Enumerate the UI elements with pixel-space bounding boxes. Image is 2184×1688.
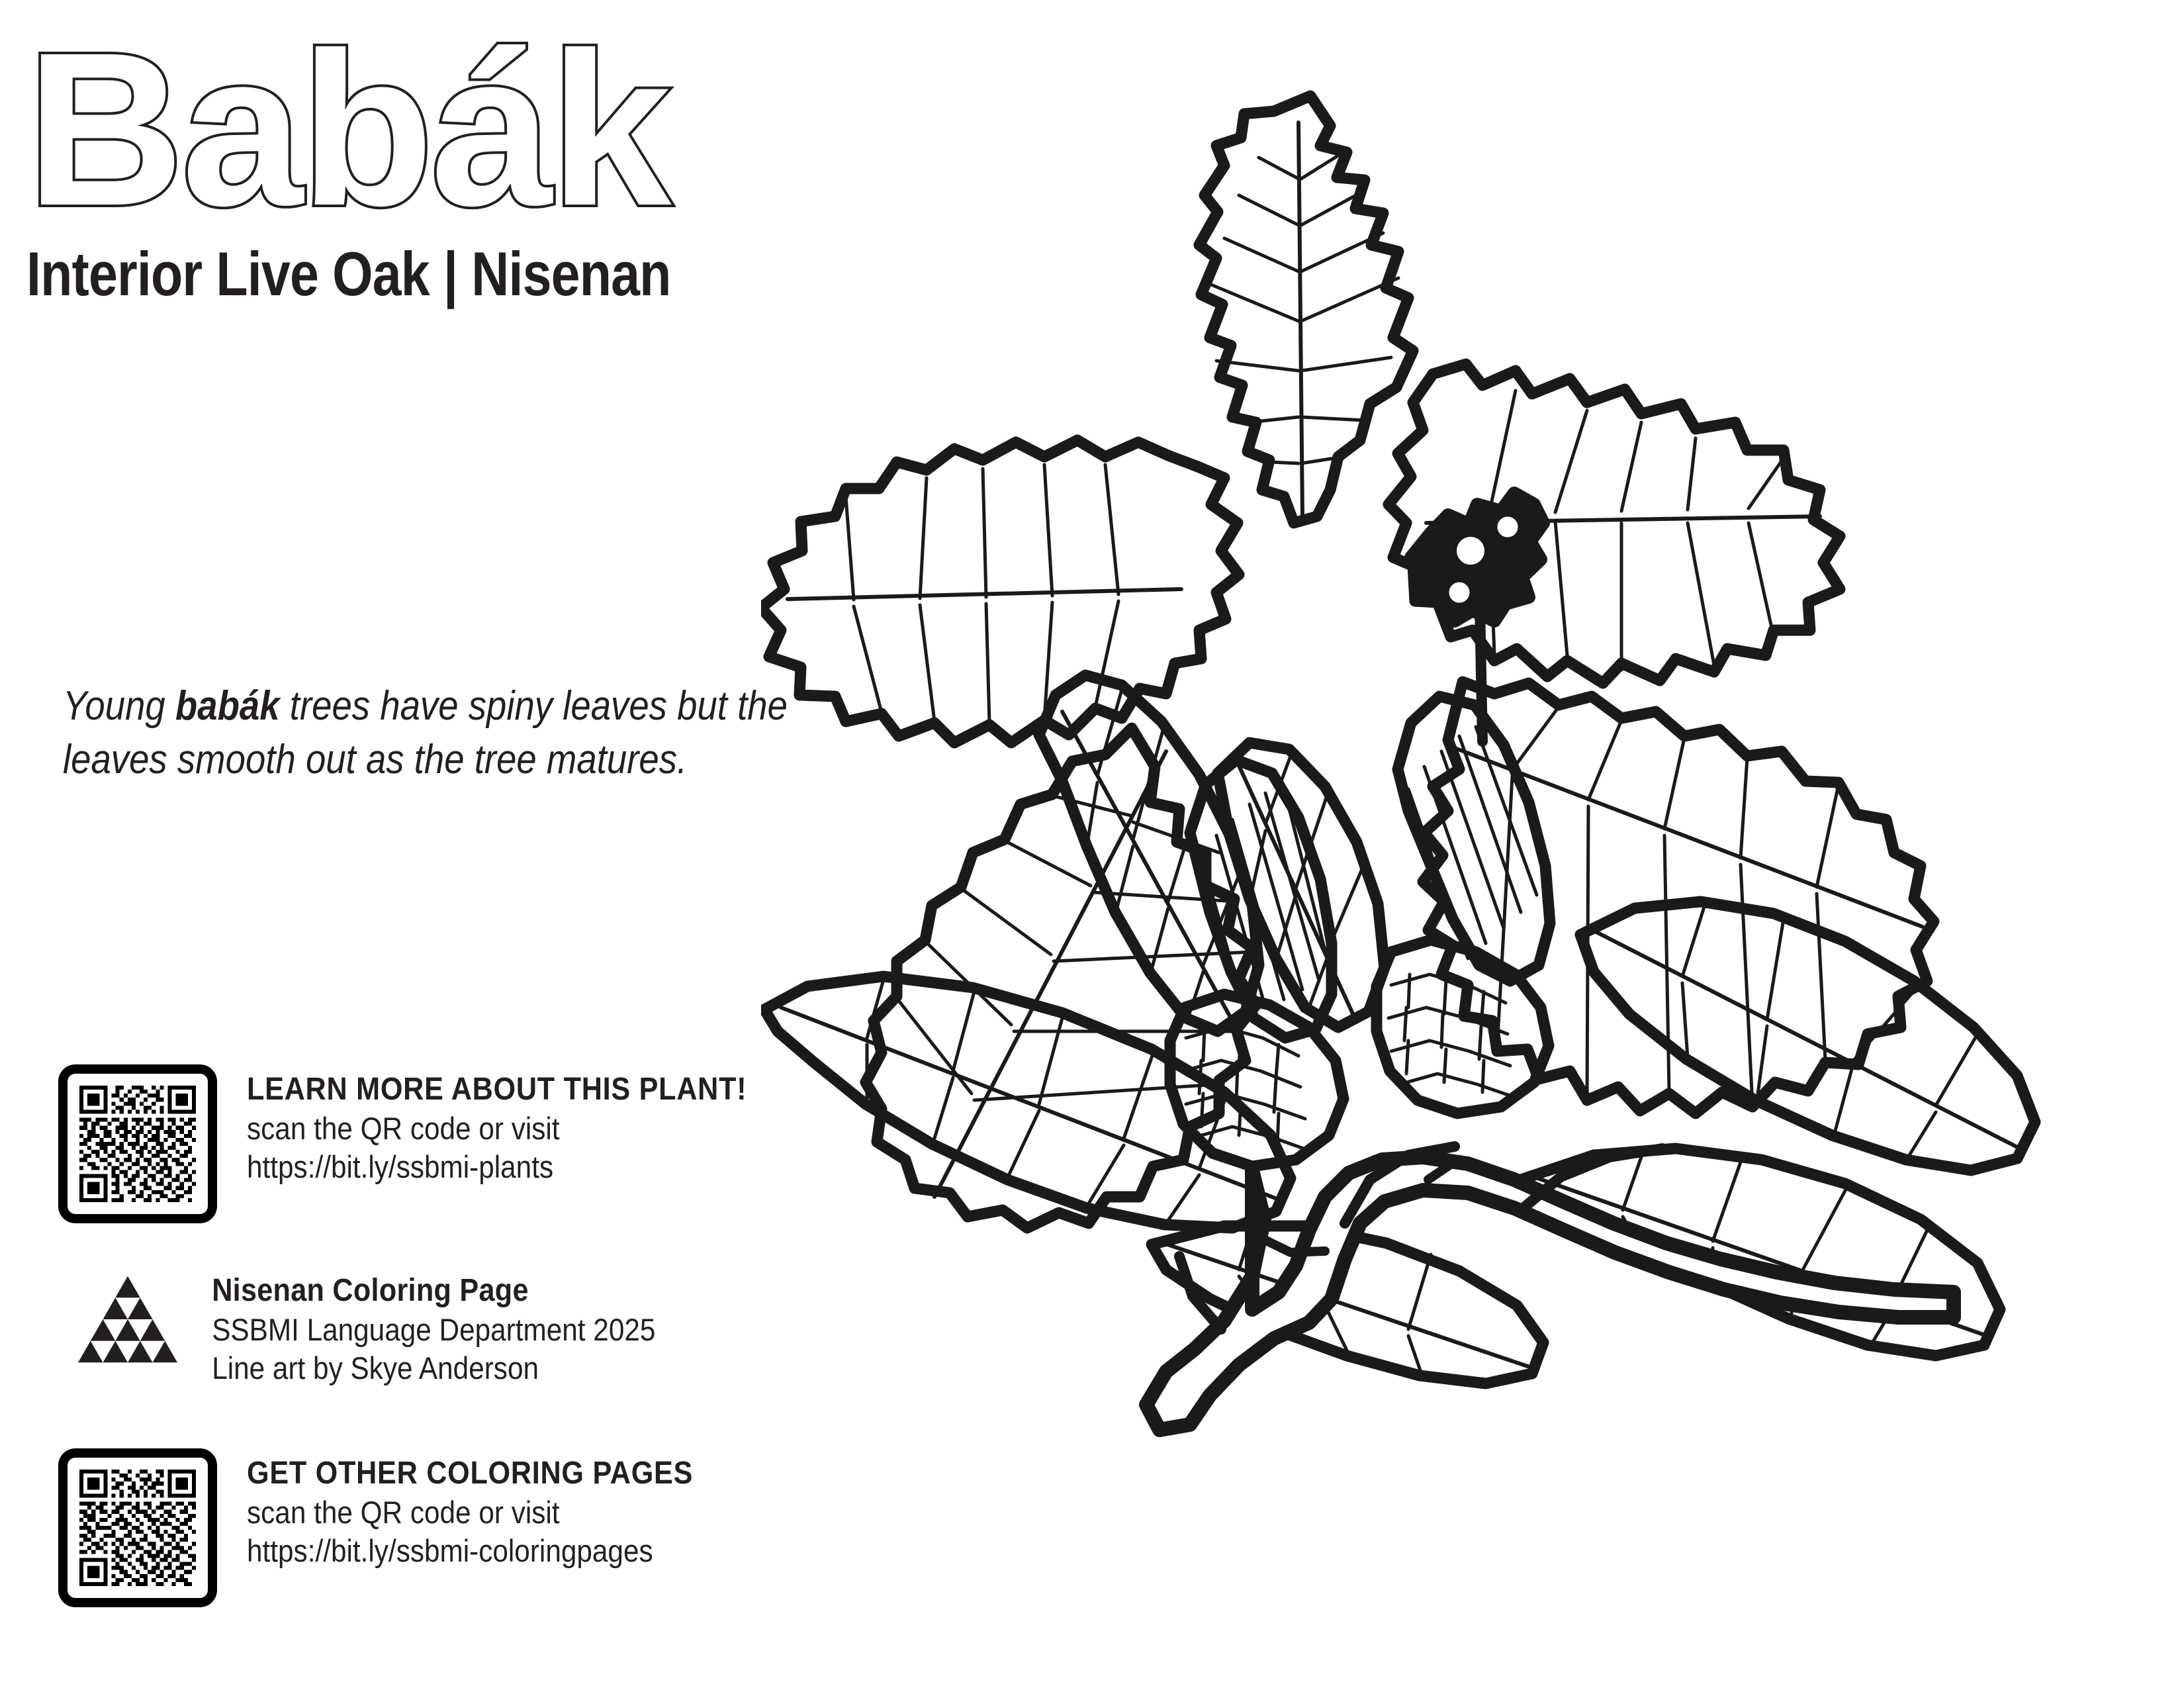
interior-live-oak-line-art [761,60,2164,1595]
info-line-2: Line art by Skye Anderson [212,1349,655,1387]
sierpinski-triangle-logo [78,1270,177,1369]
qr-code-icon[interactable] [58,1448,217,1607]
qr-code-icon[interactable] [58,1064,217,1223]
info-block-other-pages: GET OTHER COLORING PAGES scan the QR cod… [58,1448,746,1607]
info-heading: Nisenan Coloring Page [212,1271,655,1311]
info-text: LEARN MORE ABOUT THIS PLANT! scan the QR… [217,1064,747,1187]
info-line-1: scan the QR code or visit [247,1109,747,1148]
info-line-1: scan the QR code or visit [247,1493,693,1532]
description-emphasis: babák [175,683,280,729]
info-block-learn-more: LEARN MORE ABOUT THIS PLANT! scan the QR… [58,1064,805,1223]
info-line-2[interactable]: https://bit.ly/ssbmi-plants [247,1148,747,1186]
info-line-2[interactable]: https://bit.ly/ssbmi-coloringpages [247,1532,693,1570]
info-text: Nisenan Coloring Page SSBMI Language Dep… [177,1270,655,1388]
plant-description: Young babák trees have spiny leaves but … [63,680,791,786]
info-block-credits: Nisenan Coloring Page SSBMI Language Dep… [78,1270,709,1388]
info-text: GET OTHER COLORING PAGES scan the QR cod… [217,1448,693,1571]
info-heading: LEARN MORE ABOUT THIS PLANT! [247,1070,747,1109]
description-prefix: Young [63,683,175,729]
info-line-1: SSBMI Language Department 2025 [212,1311,655,1349]
info-heading: GET OTHER COLORING PAGES [247,1454,693,1493]
